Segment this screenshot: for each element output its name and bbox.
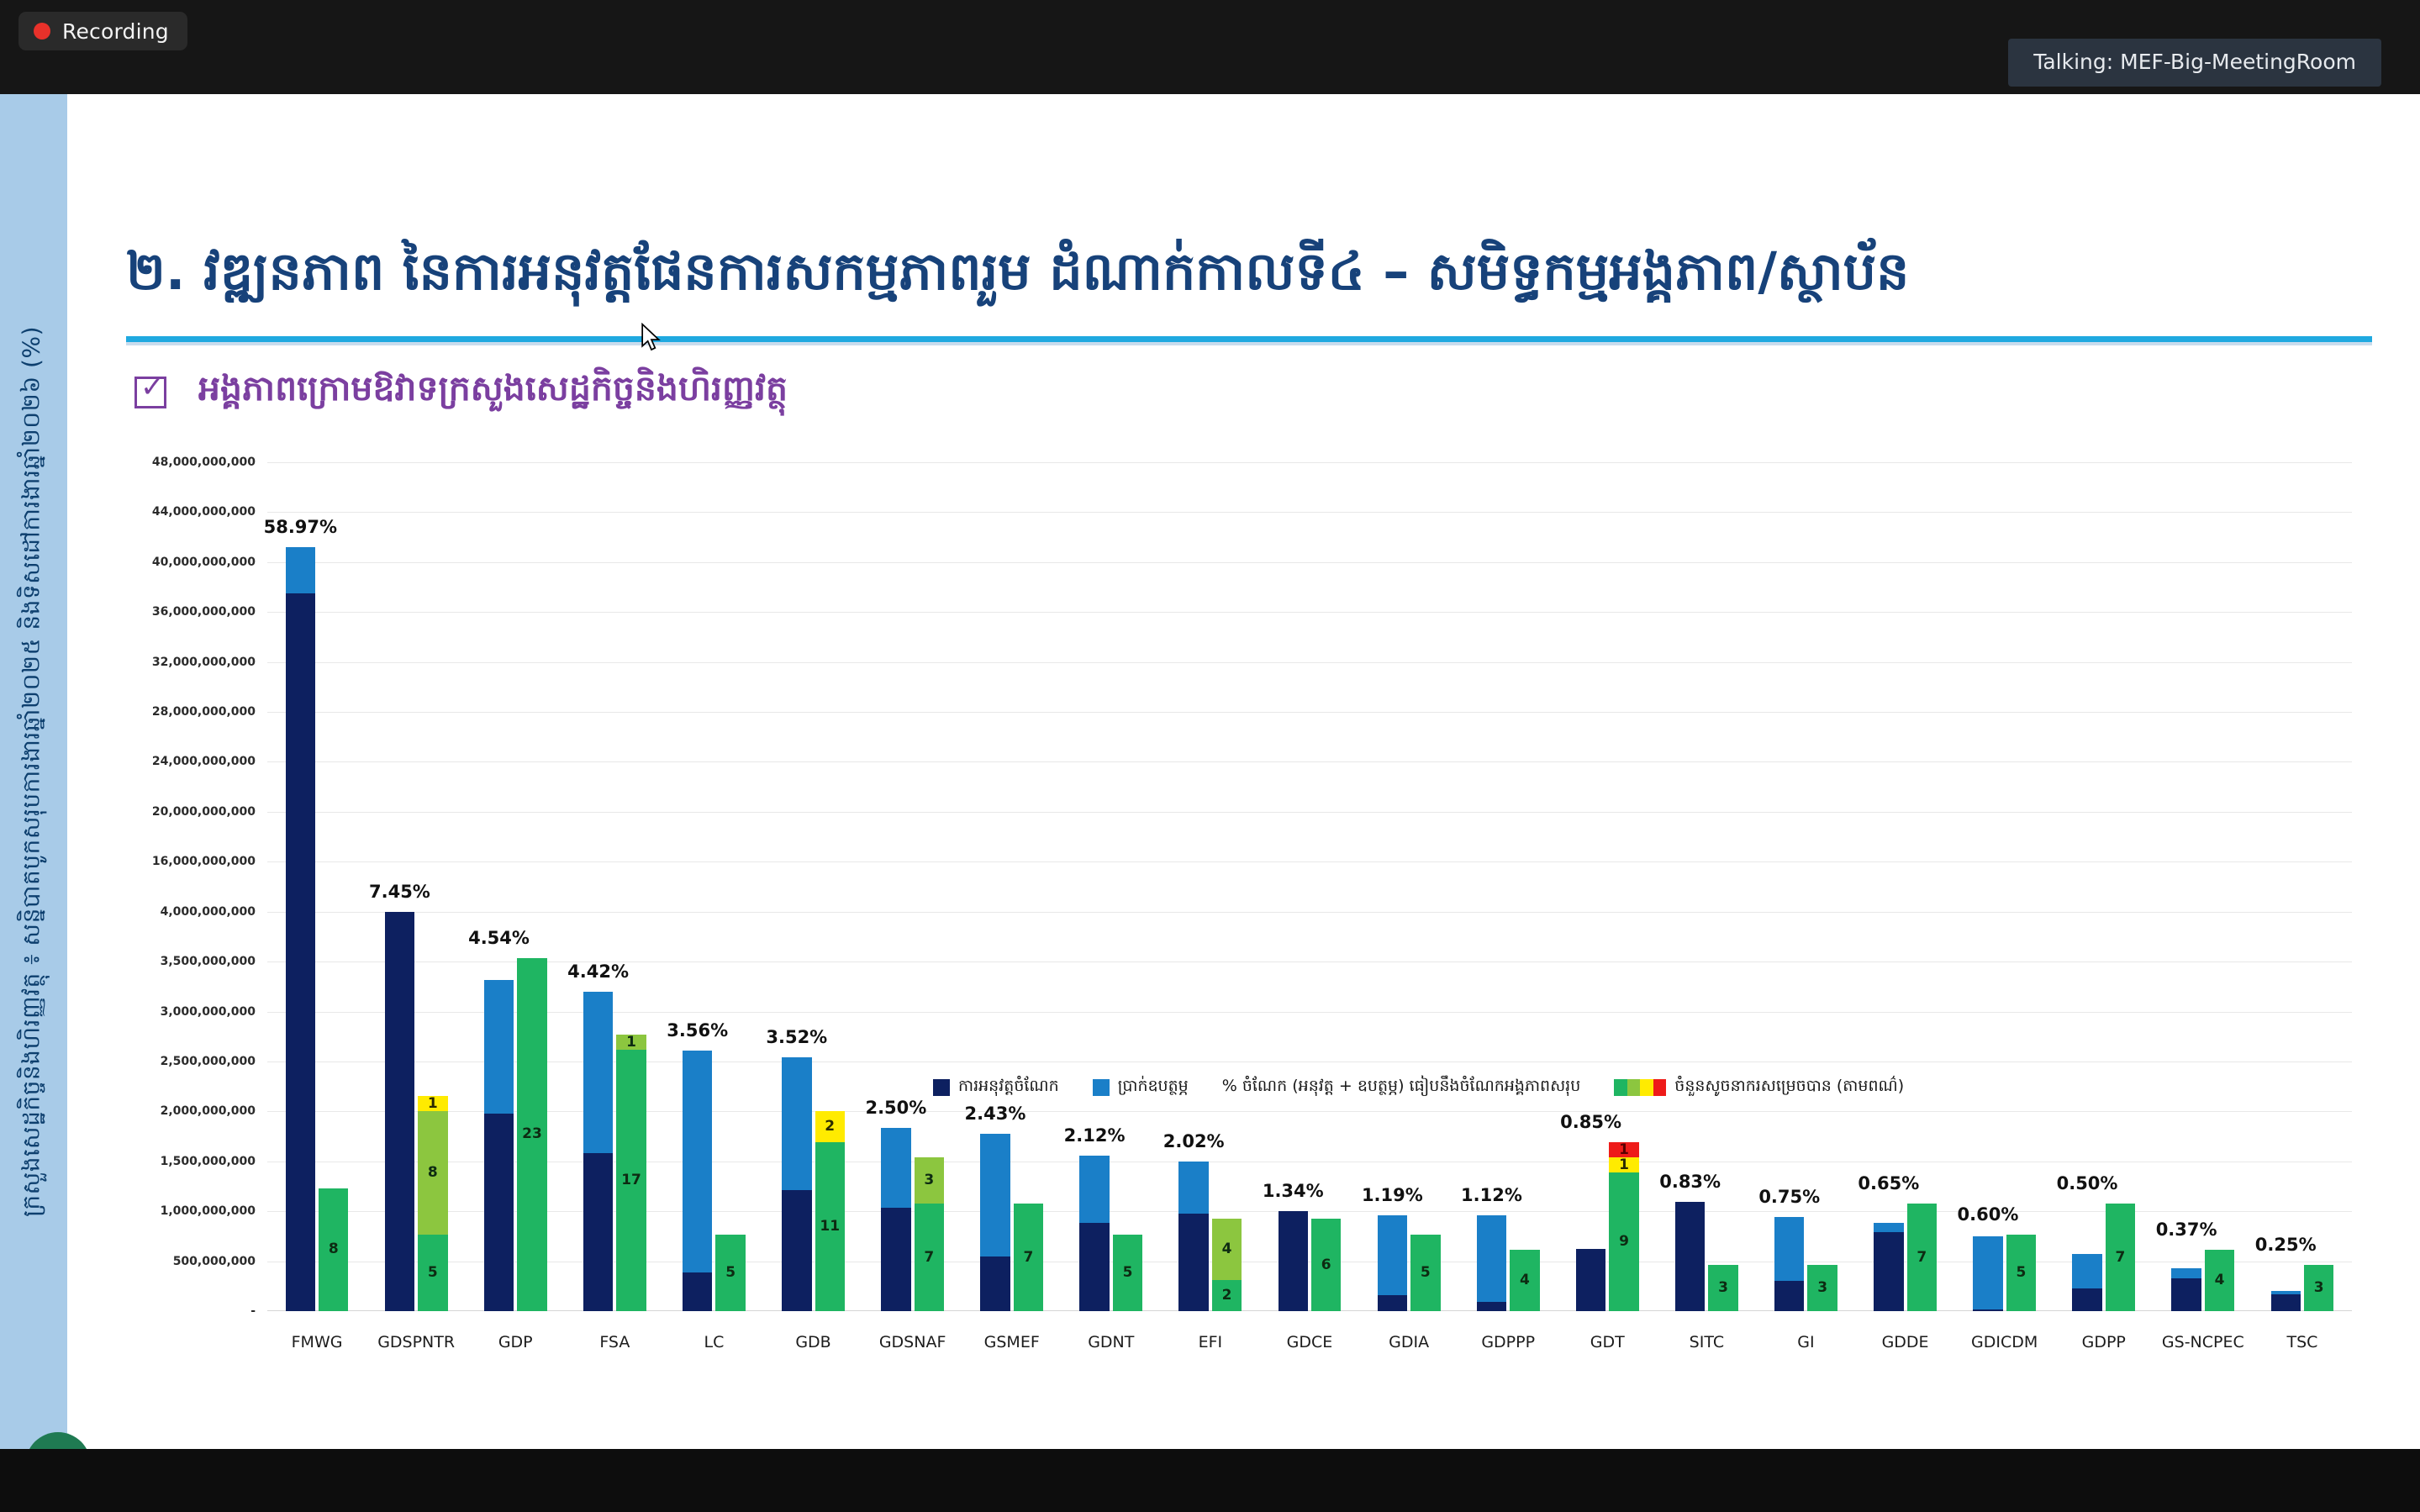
- spending-bar[interactable]: [782, 1057, 811, 1311]
- spending-bar-executed-segment: [2072, 1288, 2101, 1311]
- indicator-value-label: 7: [2116, 1251, 2126, 1265]
- indicator-segment-yellow: 2: [815, 1111, 845, 1142]
- y-axis-labels: 48,000,000,00044,000,000,00040,000,000,0…: [118, 462, 264, 1311]
- x-axis-category-label: GDICDM: [1971, 1333, 2038, 1351]
- indicator-segment-green: 11: [815, 1142, 845, 1311]
- spending-bar-executed-segment: [1973, 1309, 2002, 1311]
- spending-bar-executed-segment: [484, 1114, 514, 1311]
- y-axis-tick-label: 44,000,000,000: [152, 505, 256, 519]
- x-axis-category-label: GDCE: [1287, 1333, 1333, 1351]
- x-axis-category-label: EFI: [1199, 1333, 1223, 1351]
- spending-bar-executed-segment: [1874, 1232, 1903, 1311]
- active-speaker-badge: Talking: MEF-Big-MeetingRoom: [2008, 39, 2381, 87]
- spending-bar-executed-segment: [2271, 1294, 2301, 1311]
- record-dot-icon: [34, 23, 50, 40]
- chart-category-group: 30.25%TSC: [2253, 462, 2352, 1311]
- x-axis-category-label: GDP: [498, 1333, 533, 1351]
- indicator-segment-green: 7: [1014, 1204, 1043, 1311]
- chart-category-group: 40.37%GS-NCPEC: [2154, 462, 2253, 1311]
- x-axis-category-label: GDNT: [1088, 1333, 1134, 1351]
- chart-category-group: 242.02%EFI: [1161, 462, 1260, 1311]
- indicator-value-label: 4: [1520, 1273, 1530, 1288]
- percent-label: 2.02%: [1163, 1131, 1225, 1151]
- slide-viewport: ក្រសួងសេដ្ឋកិច្ចនិងហិរញ្ញវត្ថុ ៖ សន្និបា…: [0, 94, 2420, 1449]
- legend-swatch-multicolor-icon: [1614, 1079, 1666, 1096]
- indicator-value-label: 17: [621, 1173, 641, 1188]
- x-axis-category-label: LC: [704, 1333, 724, 1351]
- spending-bar[interactable]: [683, 1051, 712, 1311]
- spending-bar-executed-segment: [782, 1190, 811, 1311]
- indicator-value-label: 5: [1123, 1266, 1133, 1280]
- indicator-value-label: 5: [2016, 1266, 2026, 1280]
- indicator-segment-green: 23: [517, 958, 546, 1311]
- percent-label: 0.50%: [2057, 1173, 2118, 1193]
- spending-bar[interactable]: [286, 547, 315, 1311]
- indicator-value-label: 5: [1421, 1266, 1431, 1280]
- indicator-segment-green: 4: [1510, 1250, 1539, 1311]
- indicator-value-label: 7: [924, 1251, 934, 1265]
- percent-label: 1.12%: [1461, 1185, 1522, 1205]
- chart-category-group: 50.60%GDICDM: [1955, 462, 2054, 1311]
- spending-bar-subsidy-segment: [1477, 1215, 1506, 1302]
- meeting-bottombar: [0, 1449, 2420, 1512]
- x-axis-category-label: GDT: [1590, 1333, 1625, 1351]
- indicator-segment-red: 1: [1609, 1142, 1638, 1157]
- spending-bar-executed-segment: [1477, 1302, 1506, 1311]
- percent-label: 4.54%: [468, 928, 530, 948]
- percent-label: 2.50%: [865, 1098, 926, 1118]
- x-axis-category-label: SITC: [1690, 1333, 1724, 1351]
- recording-indicator[interactable]: Recording: [18, 12, 187, 50]
- screen-root: Recording Talking: MEF-Big-MeetingRoom ក…: [0, 0, 2420, 1512]
- spending-bar[interactable]: [1378, 1215, 1407, 1311]
- spending-bar[interactable]: [385, 912, 414, 1311]
- x-axis-category-label: FMWG: [292, 1333, 343, 1351]
- y-axis-tick-label: 3,500,000,000: [161, 955, 256, 968]
- spending-bar-subsidy-segment: [1079, 1156, 1109, 1223]
- chart-category-group: 53.56%LC: [664, 462, 763, 1311]
- chart-category-group: 52.12%GDNT: [1062, 462, 1161, 1311]
- chart-category-group: 1123.52%GDB: [763, 462, 862, 1311]
- spending-bar-executed-segment: [881, 1208, 910, 1311]
- percent-label: 0.65%: [1858, 1173, 1919, 1193]
- y-axis-tick-label: 2,000,000,000: [161, 1104, 256, 1118]
- checkbox-icon: [134, 377, 166, 408]
- indicator-value-label: 1: [626, 1035, 636, 1050]
- chart-category-group: 70.65%GDDE: [1856, 462, 1955, 1311]
- indicator-bar[interactable]: 171: [616, 1035, 646, 1311]
- slide-title: ២. វឌ្ឍនភាព នៃការអនុវត្តផែនការសកម្មភាពរួ…: [126, 244, 2362, 300]
- percent-label: 58.97%: [264, 517, 337, 537]
- chart-category-group: 30.75%GI: [1756, 462, 1855, 1311]
- chart-plot-area: 858.97%FMWG5817.45%GDSPNTR234.54%GDP1714…: [267, 462, 2352, 1311]
- meeting-topbar: Recording Talking: MEF-Big-MeetingRoom: [0, 0, 2420, 94]
- y-axis-tick-label: 1,500,000,000: [161, 1155, 256, 1168]
- spending-bar-executed-segment: [1178, 1214, 1208, 1311]
- y-axis-tick-label: 36,000,000,000: [152, 605, 256, 619]
- indicator-segment-lightgreen: 4: [1212, 1219, 1242, 1280]
- percent-label: 0.85%: [1560, 1112, 1621, 1132]
- legend-item: ប្រាក់ឧបត្ថម្ភ: [1093, 1076, 1189, 1099]
- x-axis-category-label: GI: [1797, 1333, 1814, 1351]
- spending-bar-subsidy-segment: [1973, 1236, 2002, 1309]
- y-axis-tick-label: 32,000,000,000: [152, 656, 256, 669]
- spending-bar[interactable]: [1774, 1217, 1804, 1311]
- chart-category-group: 41.12%GDPPP: [1458, 462, 1558, 1311]
- x-axis-category-label: GDDE: [1882, 1333, 1929, 1351]
- indicator-segment-green: 5: [1113, 1235, 1142, 1311]
- percent-label: 1.34%: [1263, 1181, 1324, 1201]
- indicator-value-label: 1: [1619, 1158, 1629, 1172]
- y-axis-tick-label: 48,000,000,000: [152, 456, 256, 469]
- chart-category-group: 30.83%SITC: [1657, 462, 1756, 1311]
- indicator-bar[interactable]: 5: [715, 1235, 745, 1311]
- chart-category-group: 9110.85%GDT: [1558, 462, 1657, 1311]
- x-axis-category-label: GS-NCPEC: [2162, 1333, 2244, 1351]
- spending-bar-executed-segment: [1378, 1295, 1407, 1311]
- indicator-value-label: 1: [1619, 1143, 1629, 1157]
- spending-bar-executed-segment: [1079, 1223, 1109, 1311]
- indicator-bar[interactable]: 3: [1807, 1265, 1837, 1311]
- indicator-value-label: 2: [1222, 1288, 1232, 1303]
- indicator-segment-green: 5: [1410, 1235, 1440, 1311]
- indicator-bar[interactable]: 24: [1212, 1219, 1242, 1311]
- spending-bar-subsidy-segment: [2072, 1254, 2101, 1288]
- recording-label: Recording: [62, 19, 169, 44]
- spending-bar-subsidy-segment: [484, 980, 514, 1114]
- indicator-value-label: 1: [428, 1097, 438, 1111]
- spending-bar[interactable]: [1576, 1249, 1605, 1311]
- spending-bar-executed-segment: [1279, 1211, 1308, 1311]
- percent-label: 1.19%: [1362, 1185, 1423, 1205]
- spending-bar-subsidy-segment: [1774, 1217, 1804, 1281]
- percent-label: 2.43%: [965, 1104, 1026, 1124]
- indicator-value-label: 3: [1817, 1281, 1827, 1295]
- y-axis-tick-label: 2,500,000,000: [161, 1055, 256, 1068]
- chart-category-group: 5817.45%GDSPNTR: [366, 462, 466, 1311]
- chart-category-group: 51.19%GDIA: [1359, 462, 1458, 1311]
- spending-bar-subsidy-segment: [1874, 1223, 1903, 1232]
- x-axis-category-label: GDSNAF: [879, 1333, 946, 1351]
- legend-label: ចំនួនសូចនាករសម្រេចបាន (តាមពណ៌): [1674, 1076, 1904, 1099]
- percent-label: 2.12%: [1064, 1125, 1126, 1146]
- indicator-bar[interactable]: 5: [2006, 1235, 2036, 1311]
- y-axis-tick-label: 3,000,000,000: [161, 1005, 256, 1019]
- x-axis-category-label: TSC: [2286, 1333, 2317, 1351]
- percent-label: 7.45%: [369, 882, 430, 902]
- spending-bar-subsidy-segment: [782, 1057, 811, 1190]
- spending-bar-executed-segment: [1576, 1249, 1605, 1311]
- indicator-segment-lightgreen: 1: [616, 1035, 646, 1050]
- indicator-bar[interactable]: 6: [1311, 1219, 1341, 1311]
- spending-bar[interactable]: [583, 992, 613, 1311]
- percent-label: 0.25%: [2255, 1235, 2317, 1255]
- spending-bar-subsidy-segment: [286, 547, 315, 593]
- y-axis-tick-label: -: [250, 1304, 256, 1318]
- percent-label: 0.60%: [1958, 1204, 2019, 1225]
- spending-bar[interactable]: [1079, 1156, 1109, 1311]
- spending-bar-subsidy-segment: [2271, 1291, 2301, 1295]
- chart-category-group: 70.50%GDPP: [2054, 462, 2154, 1311]
- indicator-value-label: 23: [522, 1127, 542, 1141]
- indicator-value-label: 3: [1718, 1281, 1728, 1295]
- spending-bar-subsidy-segment: [980, 1134, 1010, 1256]
- indicator-bar[interactable]: 7: [2106, 1204, 2135, 1311]
- y-axis-tick-label: 28,000,000,000: [152, 705, 256, 719]
- legend-label: ការអនុវត្តចំណែក: [958, 1076, 1059, 1099]
- spending-bar[interactable]: [1675, 1202, 1705, 1311]
- indicator-segment-green: 6: [1311, 1219, 1341, 1311]
- legend-label: ប្រាក់ឧបត្ថម្ភ: [1118, 1076, 1189, 1099]
- title-divider: [126, 336, 2372, 342]
- indicator-segment-green: 4: [2205, 1250, 2234, 1311]
- spending-bar[interactable]: [484, 980, 514, 1311]
- percent-label: 3.52%: [766, 1027, 827, 1047]
- indicator-segment-yellow: 1: [418, 1096, 447, 1111]
- indicator-segment-green: 2: [1212, 1280, 1242, 1311]
- indicator-segment-green: 3: [2304, 1265, 2333, 1311]
- y-axis-tick-label: 24,000,000,000: [152, 755, 256, 768]
- indicator-value-label: 7: [1916, 1251, 1927, 1265]
- spending-bar-subsidy-segment: [2171, 1268, 2201, 1278]
- percent-label: 0.37%: [2156, 1220, 2217, 1240]
- spending-bar-executed-segment: [286, 593, 315, 1311]
- x-axis-category-label: GDPPP: [1481, 1333, 1535, 1351]
- indicator-segment-green: 5: [715, 1235, 745, 1311]
- indicator-value-label: 9: [1619, 1235, 1629, 1249]
- slide-subtitle-row: អង្គភាពក្រោមឱវាទក្រសួងសេដ្ឋកិច្ចនិងហិរញ្…: [134, 367, 788, 418]
- spending-bar-executed-segment: [980, 1256, 1010, 1311]
- spending-bar[interactable]: [881, 1128, 910, 1311]
- indicator-bar[interactable]: 73: [915, 1157, 944, 1311]
- indicator-value-label: 3: [2314, 1281, 2324, 1295]
- indicator-bar[interactable]: 3: [2304, 1265, 2333, 1311]
- x-axis-category-label: FSA: [599, 1333, 630, 1351]
- indicator-segment-green: 5: [418, 1235, 447, 1311]
- indicator-bar[interactable]: 7: [1014, 1204, 1043, 1311]
- y-axis-tick-label: 1,000,000,000: [161, 1204, 256, 1218]
- legend-label: % ចំណែក (អនុវត្ត + ឧបត្ថម្ភ) ធៀបនឹងចំណែក…: [1222, 1076, 1581, 1099]
- x-axis-category-label: GDB: [795, 1333, 830, 1351]
- spending-bar-subsidy-segment: [583, 992, 613, 1153]
- percent-label: 0.75%: [1758, 1187, 1820, 1207]
- indicator-segment-green: 3: [1708, 1265, 1737, 1311]
- indicator-bar[interactable]: 3: [1708, 1265, 1737, 1311]
- chart-category-group: 858.97%FMWG: [267, 462, 366, 1311]
- indicator-segment-green: 17: [616, 1050, 646, 1311]
- spending-bar-executed-segment: [583, 1153, 613, 1311]
- y-axis-tick-label: 500,000,000: [173, 1255, 256, 1268]
- spending-bar-executed-segment: [1774, 1281, 1804, 1311]
- percent-label: 3.56%: [667, 1020, 728, 1040]
- chart-legend: ការអនុវត្តចំណែកប្រាក់ឧបត្ថម្ភ% ចំណែក (អន…: [933, 1076, 1904, 1099]
- spending-bar-executed-segment: [385, 912, 414, 1311]
- x-axis-category-label: GSMEF: [984, 1333, 1040, 1351]
- spending-bar[interactable]: [1279, 1211, 1308, 1311]
- chart-category-group: 732.50%GDSNAF: [863, 462, 962, 1311]
- indicator-value-label: 3: [924, 1173, 934, 1188]
- indicator-value-label: 7: [1023, 1251, 1033, 1265]
- indicator-bar[interactable]: 7: [1907, 1204, 1937, 1311]
- spending-bar-subsidy-segment: [881, 1128, 910, 1208]
- indicator-segment-lightgreen: 8: [418, 1111, 447, 1234]
- presentation-slide: ក្រសួងសេដ្ឋកិច្ចនិងហិរញ្ញវត្ថុ ៖ សន្និបា…: [0, 94, 2420, 1449]
- y-axis-tick-label: 40,000,000,000: [152, 556, 256, 569]
- percent-label: 4.42%: [567, 961, 629, 982]
- indicator-segment-green: 7: [915, 1204, 944, 1311]
- indicator-value-label: 5: [725, 1266, 735, 1280]
- spending-bar-executed-segment: [1675, 1202, 1705, 1311]
- chart-category-group: 1714.42%FSA: [565, 462, 664, 1311]
- legend-item: ចំនួនសូចនាករសម្រេចបាន (តាមពណ៌): [1614, 1076, 1904, 1099]
- indicator-bar[interactable]: 581: [418, 1096, 447, 1311]
- indicator-bar[interactable]: 8: [319, 1188, 348, 1311]
- indicator-value-label: 4: [2215, 1273, 2225, 1288]
- chart-category-group: 234.54%GDP: [466, 462, 565, 1311]
- spending-bar[interactable]: [1477, 1215, 1506, 1311]
- indicator-segment-green: 7: [2106, 1204, 2135, 1311]
- x-axis-category-label: GDIA: [1389, 1333, 1429, 1351]
- spending-bar[interactable]: [2171, 1268, 2201, 1311]
- spending-bar[interactable]: [2072, 1254, 2101, 1311]
- spending-bar-subsidy-segment: [1178, 1162, 1208, 1214]
- legend-item: ការអនុវត្តចំណែក: [933, 1076, 1059, 1099]
- indicator-bar[interactable]: 4: [1510, 1250, 1539, 1311]
- legend-swatch-icon: [1093, 1079, 1110, 1096]
- indicator-segment-green: 9: [1609, 1172, 1638, 1311]
- indicator-segment-green: 7: [1907, 1204, 1937, 1311]
- spending-bar-subsidy-segment: [683, 1051, 712, 1272]
- indicator-segment-green: 3: [1807, 1265, 1837, 1311]
- legend-item: % ចំណែក (អនុវត្ត + ឧបត្ថម្ភ) ធៀបនឹងចំណែក…: [1222, 1076, 1581, 1099]
- percent-label: 0.83%: [1659, 1172, 1721, 1192]
- side-banner-text: ក្រសួងសេដ្ឋកិច្ចនិងហិរញ្ញវត្ថុ ៖ សន្និបា…: [17, 326, 51, 1217]
- indicator-bar[interactable]: 4: [2205, 1250, 2234, 1311]
- spending-bar-executed-segment: [683, 1272, 712, 1311]
- indicator-value-label: 5: [428, 1266, 438, 1280]
- indicator-segment-green: 8: [319, 1188, 348, 1311]
- x-axis-category-label: GDPP: [2082, 1333, 2126, 1351]
- indicator-value-label: 8: [329, 1242, 339, 1256]
- indicator-segment-yellow: 1: [1609, 1157, 1638, 1172]
- spending-bar[interactable]: [2271, 1291, 2301, 1311]
- indicator-value-label: 11: [820, 1220, 840, 1234]
- chart-category-group: 61.34%GDCE: [1260, 462, 1359, 1311]
- indicator-bar[interactable]: 5: [1410, 1235, 1440, 1311]
- spending-bar[interactable]: [1178, 1162, 1208, 1311]
- indicator-bar[interactable]: 911: [1609, 1142, 1638, 1311]
- y-axis-tick-label: 20,000,000,000: [152, 805, 256, 819]
- spending-bar-executed-segment: [2171, 1278, 2201, 1311]
- spending-bar[interactable]: [1973, 1236, 2002, 1311]
- slide-subtitle: អង្គភាពក្រោមឱវាទក្រសួងសេដ្ឋកិច្ចនិងហិរញ្…: [198, 367, 788, 418]
- indicator-value-label: 4: [1222, 1242, 1232, 1256]
- indicator-bar[interactable]: 5: [1113, 1235, 1142, 1311]
- indicator-value-label: 6: [1321, 1258, 1331, 1272]
- indicator-value-label: 8: [428, 1166, 438, 1180]
- slide-side-banner: ក្រសួងសេដ្ឋកិច្ចនិងហិរញ្ញវត្ថុ ៖ សន្និបា…: [0, 94, 67, 1449]
- x-axis-category-label: GDSPNTR: [377, 1333, 455, 1351]
- chart-category-group: 72.43%GSMEF: [962, 462, 1062, 1311]
- indicator-bar[interactable]: 23: [517, 958, 546, 1311]
- indicator-segment-green: 5: [2006, 1235, 2036, 1311]
- spending-bar-subsidy-segment: [1378, 1215, 1407, 1295]
- legend-swatch-icon: [933, 1079, 950, 1096]
- spending-bar[interactable]: [1874, 1223, 1903, 1311]
- chart-panel: 48,000,000,00044,000,000,00040,000,000,0…: [118, 447, 2370, 1397]
- spending-bar[interactable]: [980, 1134, 1010, 1311]
- indicator-value-label: 2: [825, 1120, 835, 1134]
- y-axis-tick-label: 16,000,000,000: [152, 855, 256, 868]
- y-axis-tick-label: 4,000,000,000: [161, 905, 256, 919]
- indicator-bar[interactable]: 112: [815, 1111, 845, 1311]
- indicator-segment-lightgreen: 3: [915, 1157, 944, 1204]
